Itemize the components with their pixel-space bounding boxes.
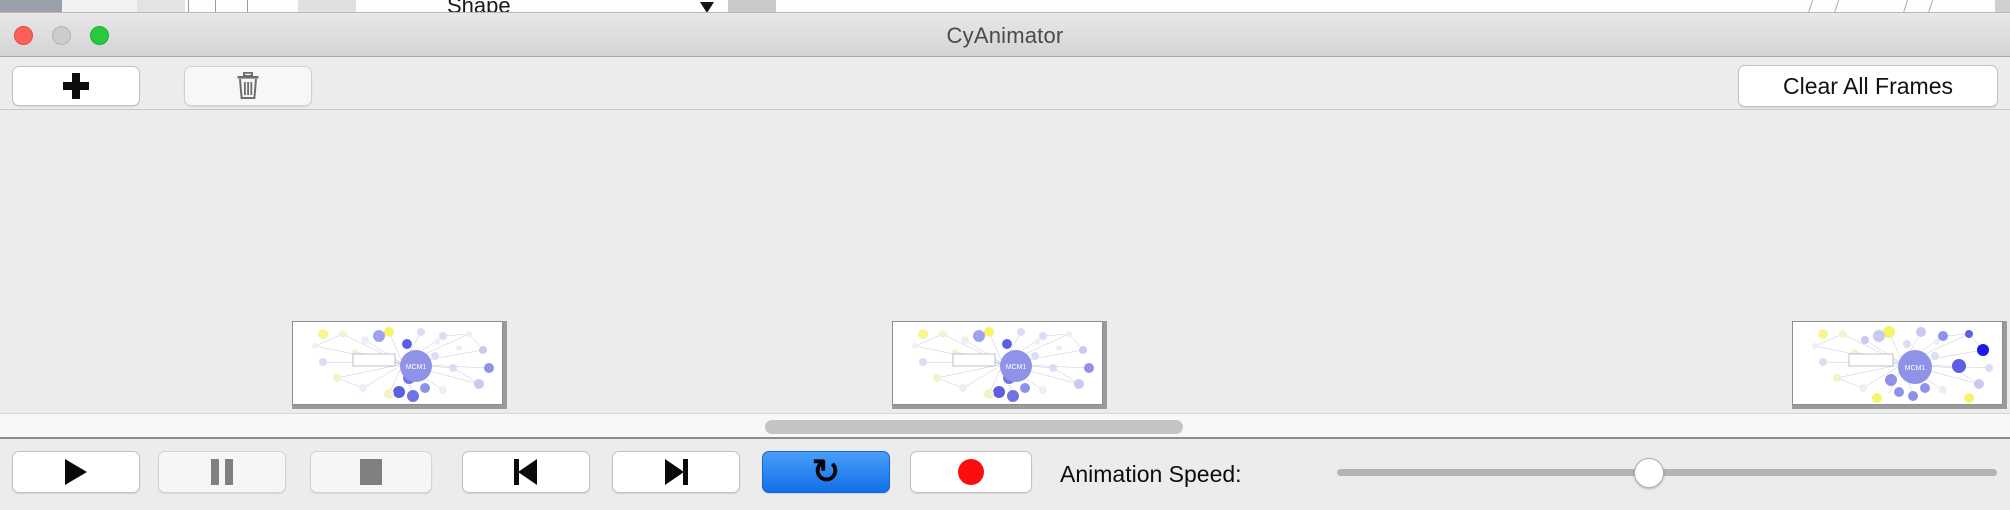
stop-icon xyxy=(360,459,382,485)
frame-thumbnail-image: MCM1 xyxy=(292,321,503,405)
clear-all-frames-button[interactable]: Clear All Frames xyxy=(1738,65,1998,107)
loop-button[interactable]: ↻ xyxy=(762,451,890,493)
play-icon xyxy=(65,459,87,485)
background-window-label: Shape xyxy=(447,0,511,13)
title-bar: CyAnimator xyxy=(0,13,2010,57)
bg-chunk xyxy=(1995,0,2010,13)
frame-thumbnail[interactable]: MCM1 xyxy=(892,321,1107,409)
play-button[interactable] xyxy=(12,451,140,493)
pause-icon xyxy=(211,459,233,485)
bg-chunk xyxy=(298,0,356,13)
animation-speed-slider[interactable] xyxy=(1337,469,1997,476)
svg-text:MCM1: MCM1 xyxy=(406,364,427,371)
skip-backward-button[interactable] xyxy=(462,451,590,493)
loop-icon: ↻ xyxy=(812,457,841,487)
frame-thumbnail-image: MCM1 xyxy=(1792,321,2003,405)
network-graph: MCM1 xyxy=(1793,322,2003,405)
skip-forward-button[interactable] xyxy=(612,451,740,493)
skip-backward-icon xyxy=(514,459,538,485)
record-button[interactable] xyxy=(910,451,1032,493)
add-frame-button[interactable] xyxy=(12,66,140,106)
bg-chunk xyxy=(137,0,185,13)
stop-button[interactable] xyxy=(310,451,432,493)
pause-button[interactable] xyxy=(158,451,286,493)
clear-all-frames-label: Clear All Frames xyxy=(1783,73,1953,100)
record-icon xyxy=(958,459,984,485)
frame-thumbnail[interactable]: MCM1 xyxy=(292,321,507,409)
bg-chunk xyxy=(62,0,137,13)
trash-icon xyxy=(236,72,260,100)
frame-thumbnail-image: MCM1 xyxy=(892,321,1103,405)
scrollbar-thumb[interactable] xyxy=(765,420,1183,434)
animation-speed-label: Animation Speed: xyxy=(1060,461,1242,488)
window-title: CyAnimator xyxy=(0,23,2010,49)
animation-speed-slider-handle[interactable] xyxy=(1634,458,1664,488)
cyanimator-window: Shape CyAnimator Clear All Frames xyxy=(0,0,2010,510)
network-graph: MCM1 xyxy=(293,322,503,405)
svg-text:MCM1: MCM1 xyxy=(1905,365,1926,372)
skip-forward-icon xyxy=(664,459,688,485)
bg-chunk xyxy=(728,0,776,13)
plus-icon xyxy=(63,73,89,99)
background-window-strip: Shape xyxy=(0,0,2010,13)
frame-thumbnail[interactable]: MCM1 xyxy=(1792,321,2007,409)
delete-frame-button[interactable] xyxy=(184,66,312,106)
toolbar: Clear All Frames xyxy=(0,57,2010,110)
playback-controls: ↻ Animation Speed: xyxy=(0,441,2010,510)
svg-text:MCM1: MCM1 xyxy=(1006,364,1027,371)
horizontal-scrollbar[interactable] xyxy=(0,413,2010,439)
network-graph: MCM1 xyxy=(893,322,1103,405)
timeline-panel[interactable]: MCM1 xyxy=(0,110,2010,413)
bg-chunk xyxy=(0,0,62,13)
